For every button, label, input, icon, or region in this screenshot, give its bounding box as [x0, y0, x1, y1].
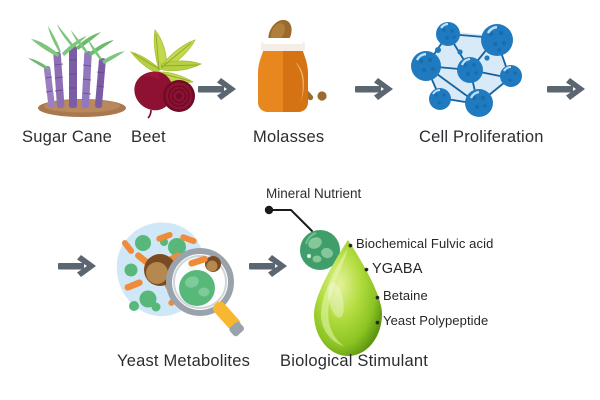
label-cell-proliferation: Cell Proliferation [419, 128, 544, 147]
process-flow-diagram: Sugar Cane Beet Molasses Cell Proliferat… [0, 0, 600, 400]
label-beet: Beet [131, 128, 166, 147]
beet-icon [115, 20, 215, 118]
component-item-3-text: Betaine [383, 288, 428, 303]
cell-network-icon [404, 18, 524, 118]
bullet-dot: • [348, 237, 353, 253]
bullet-dot: • [375, 289, 380, 305]
callout-label-mineral-nutrient: Mineral Nutrient [266, 186, 361, 201]
component-item-1: •Biochemical Fulvic acid [348, 236, 493, 252]
component-item-2-text: ΥGABA [372, 261, 422, 277]
label-molasses: Molasses [253, 128, 324, 147]
component-item-1-text: Biochemical Fulvic acid [356, 236, 493, 251]
arrow-3 [547, 76, 589, 102]
component-item-2: •ΥGABA [364, 261, 422, 277]
bullet-dot: • [364, 261, 369, 277]
component-item-3: •Betaine [375, 288, 428, 304]
label-biological-stimulant: Biological Stimulant [280, 352, 428, 371]
arrow-2 [355, 76, 397, 102]
component-item-4-text: Yeast Polypeptide [383, 313, 488, 328]
component-item-4: •Yeast Polypeptide [375, 313, 488, 329]
arrow-1 [198, 76, 240, 102]
label-yeast-metabolites: Yeast Metabolites [117, 352, 250, 371]
bullet-dot: • [375, 314, 380, 330]
molasses-jar-icon [252, 18, 356, 118]
arrow-5 [249, 253, 291, 279]
label-sugar-cane: Sugar Cane [22, 128, 112, 147]
yeast-cell-magnifier-icon [104, 212, 249, 342]
arrow-4 [58, 253, 100, 279]
